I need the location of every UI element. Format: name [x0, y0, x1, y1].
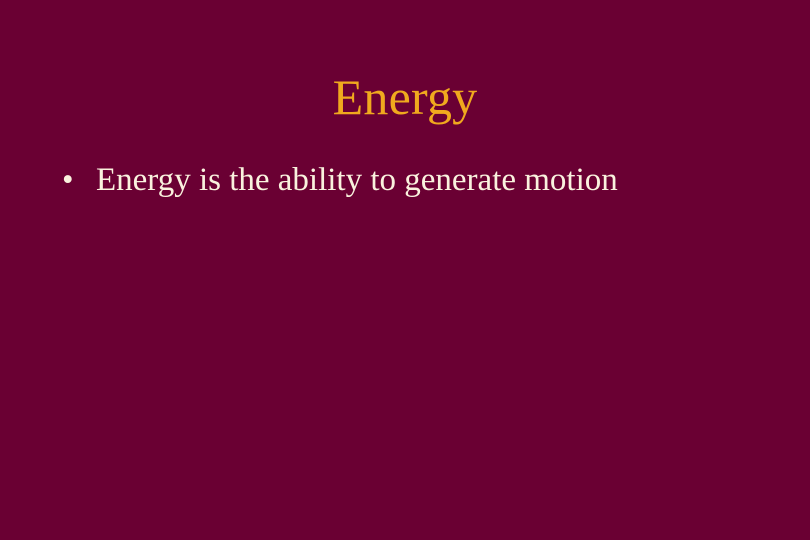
presentation-slide: Energy • Energy is the ability to genera… — [0, 0, 810, 540]
slide-body: • Energy is the ability to generate moti… — [56, 160, 756, 200]
bullet-item-text: Energy is the ability to generate motion — [96, 162, 618, 198]
slide-title: Energy — [0, 68, 810, 126]
bullet-list: • Energy is the ability to generate moti… — [56, 160, 756, 200]
bullet-dot-icon: • — [62, 160, 82, 200]
bullet-list-item: • Energy is the ability to generate moti… — [56, 160, 756, 200]
